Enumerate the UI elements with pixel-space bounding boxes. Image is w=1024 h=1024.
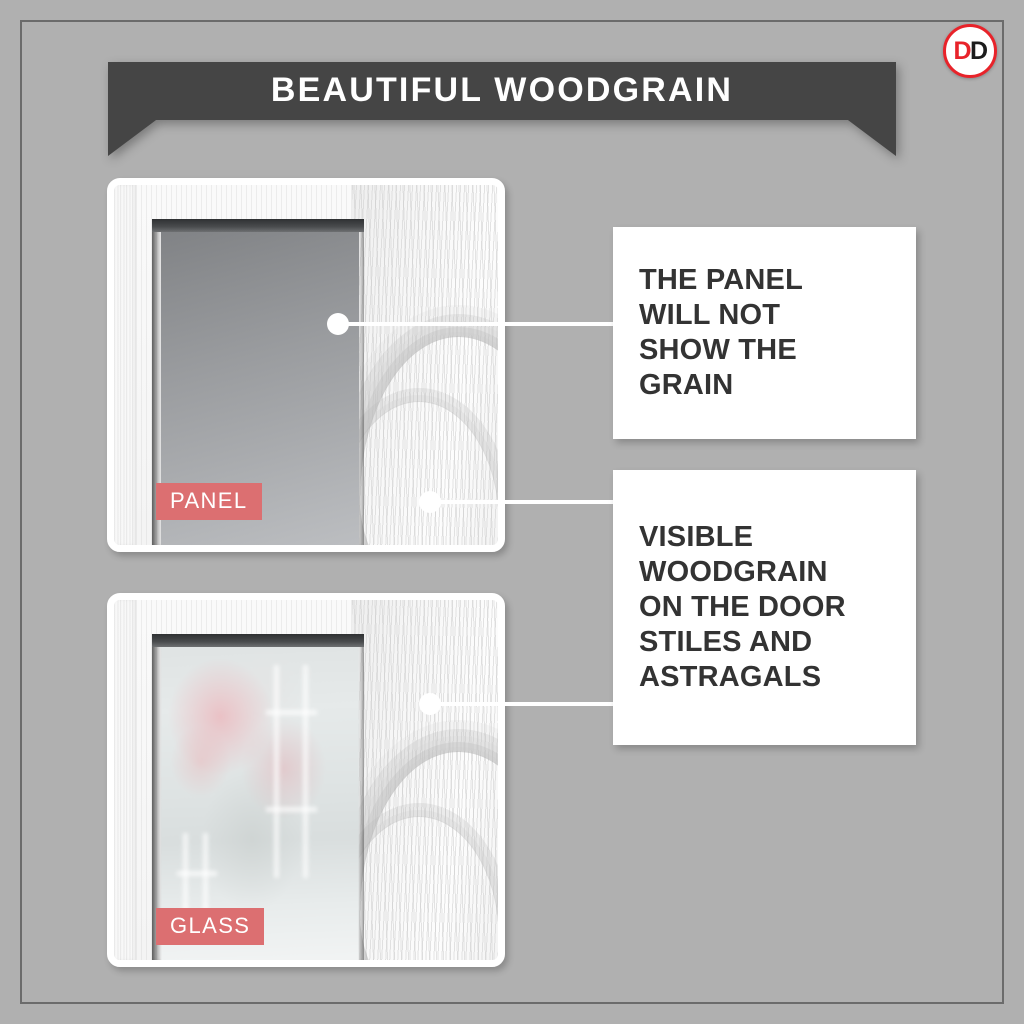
chip-label-glass: GLASS: [156, 908, 264, 945]
glass-reveal-top: [152, 634, 363, 647]
title-ribbon: BEAUTIFUL WOODGRAIN: [108, 62, 896, 158]
glass-photo-inner: [114, 600, 498, 960]
glass-reflection-mullion: [266, 710, 317, 715]
glass-reflection-mullion: [177, 871, 216, 876]
leader-dot-panel-face: [327, 313, 349, 335]
chip-label-panel: PANEL: [156, 483, 262, 520]
callout-panel-grain-text: THE PANEL WILL NOT SHOW THE GRAIN: [613, 263, 819, 403]
callout-visible-woodgrain-text: VISIBLE WOODGRAIN ON THE DOOR STILES AND…: [613, 520, 862, 695]
logo-letter-first: D: [953, 37, 970, 65]
page-title: BEAUTIFUL WOODGRAIN: [108, 62, 896, 119]
panel-reveal-top: [152, 219, 363, 232]
glass-reflection-mullion: [266, 807, 317, 812]
glass-reflection-mullion: [303, 665, 308, 878]
dd-logo-text: DD: [953, 39, 986, 64]
leader-line-panel-face: [338, 322, 618, 326]
woodgrain-stile-glass: [352, 600, 498, 960]
callout-visible-woodgrain: VISIBLE WOODGRAIN ON THE DOOR STILES AND…: [613, 470, 916, 745]
infographic-canvas: DD BEAUTIFUL WOODGRAIN PANEL: [0, 0, 1024, 1024]
callout-panel-grain: THE PANEL WILL NOT SHOW THE GRAIN: [613, 227, 916, 439]
leader-line-glass-stile: [430, 702, 618, 706]
door-molding-glass: [114, 600, 136, 960]
glass-reflection-mullion: [274, 665, 279, 878]
door-molding-panel: [114, 185, 136, 545]
leader-dot-panel-stile: [419, 491, 441, 513]
leader-line-panel-stile: [430, 500, 618, 504]
logo-letter-second: D: [970, 37, 987, 65]
dd-logo: DD: [943, 24, 997, 78]
leader-dot-glass-stile: [419, 693, 441, 715]
